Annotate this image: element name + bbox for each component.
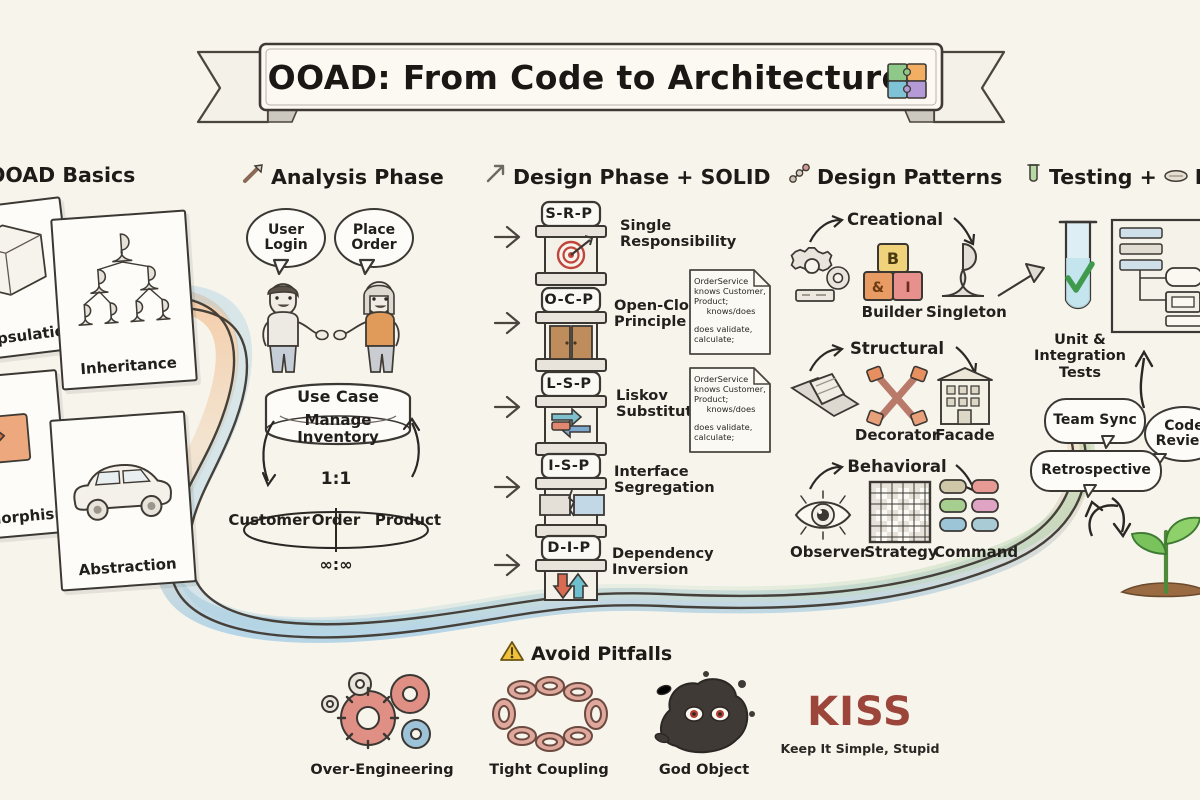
column-header-design: Design Phase + SOLID — [484, 163, 770, 190]
pitfalls-title-label: Avoid Pitfalls — [531, 643, 672, 665]
column-header-analysis: Analysis Phase — [242, 163, 444, 190]
column-label-testing: Testing + — [1049, 165, 1157, 189]
crc-note-head: OrderService knows Customer, Product; — [694, 276, 768, 306]
red-gears-icon — [316, 672, 446, 758]
use-case-title: Use Case — [278, 388, 398, 406]
pitfall-label-god-object: God Object — [640, 762, 768, 778]
pitfalls-title: Avoid Pitfalls — [500, 640, 672, 667]
crc-note-tail: does validate, calculate; — [694, 324, 768, 344]
solid-name-isp: Interface Segregation — [614, 464, 740, 496]
solid-abbr-dip: D-I-P — [540, 540, 598, 556]
blob-monster-icon — [648, 668, 758, 760]
column-label-analysis: Analysis Phase — [271, 165, 444, 189]
solid-name-srp: Single Responsibility — [620, 218, 740, 250]
whiteboard-canvas: OOAD: From Code to Architecture OOAD Bas… — [0, 0, 1200, 800]
bubble-team-sync[interactable]: Team Sync — [1044, 398, 1146, 444]
basics-card-label: Abstraction — [61, 553, 194, 580]
column-label-design: Design Phase + SOLID — [513, 165, 770, 189]
crossed-brushes-icon — [866, 366, 928, 428]
pattern-label-observer: Observer — [790, 543, 864, 561]
bubble-tail-icon — [272, 258, 294, 280]
puzzle-piece-icon — [886, 62, 930, 106]
single-person-icon — [932, 240, 994, 304]
pen-arrow-icon — [242, 163, 264, 190]
chain-icon — [486, 676, 616, 754]
pattern-label-facade: Facade — [934, 426, 996, 444]
column-header-patterns: Design Patterns — [788, 163, 1002, 190]
crc-note-head: OrderService knows Customer, Product; — [694, 374, 768, 404]
bubble-text: Retrospective — [1041, 463, 1151, 478]
test-tube-check-icon — [1052, 212, 1106, 328]
pattern-label-singleton: Singleton — [926, 303, 1002, 321]
person-male-icon — [246, 280, 336, 375]
cardinality-top: 1:1 — [296, 470, 376, 489]
dna-link-icon — [788, 163, 810, 190]
pattern-label-strategy: Strategy — [864, 543, 938, 561]
documentation-diagram-icon[interactable] — [1110, 218, 1200, 336]
svg-text:I: I — [905, 280, 910, 296]
testing-label: Unit & Integration Tests — [1030, 332, 1130, 381]
crc-note-mid: knows/does — [694, 404, 768, 414]
solid-abbr-isp: I-S-P — [540, 458, 598, 474]
test-tube-icon — [1022, 163, 1042, 190]
page-title: OOAD: From Code to Architecture — [266, 52, 906, 102]
solid-abbr-lsp: L-S-P — [540, 376, 598, 392]
bubble-text: Team Sync — [1053, 413, 1137, 428]
person-female-icon — [330, 280, 422, 375]
up-arrow-icon — [484, 163, 506, 190]
bubble-text: Place Order — [351, 223, 396, 254]
svg-text:&: & — [872, 280, 884, 296]
column-label-docs: Docs — [1195, 165, 1200, 189]
scroll-icon — [1164, 165, 1188, 189]
kiss-expansion: Keep It Simple, Stupid — [770, 741, 950, 756]
crc-note-tail: does validate, calculate; — [694, 422, 768, 442]
basics-card-label: Inheritance — [62, 352, 195, 379]
testing-inbound-arrow — [996, 262, 1048, 306]
kiss-principle: KISS Keep It Simple, Stupid — [770, 692, 950, 756]
solid-name-dip: Dependency Inversion — [612, 546, 742, 578]
entity-product: Product — [366, 512, 450, 529]
blocks-icon: B & I — [862, 242, 924, 304]
solid-abbr-ocp: O-C-P — [540, 292, 598, 308]
eye-icon — [790, 488, 862, 542]
pitfall-label-over-engineering: Over-Engineering — [300, 762, 464, 778]
pitfall-label-tight-coupling: Tight Coupling — [474, 762, 624, 778]
title-banner: OOAD: From Code to Architecture — [196, 22, 1006, 132]
pipe-adapter-icon — [788, 372, 864, 428]
bubble-tail-icon — [358, 258, 380, 280]
grid-board-icon — [868, 480, 932, 544]
bubble-text: User Login — [264, 223, 307, 254]
solid-abbr-srp: S-R-P — [540, 206, 598, 222]
column-header-testing: Testing + Docs — [1022, 163, 1200, 190]
solid-inbound-arrows — [455, 215, 535, 575]
column-label-basics: OOAD Basics — [0, 163, 135, 187]
column-label-patterns: Design Patterns — [817, 165, 1002, 189]
basics-card-inheritance[interactable]: Inheritance — [50, 209, 198, 390]
cardinality-bottom: ∞:∞ — [296, 556, 376, 574]
warning-triangle-icon — [500, 640, 524, 667]
basics-card-abstraction[interactable]: Abstraction — [49, 410, 197, 591]
pattern-label-command: Command — [934, 543, 1012, 561]
crc-note-mid: knows/does — [694, 306, 768, 316]
kiss-acronym: KISS — [770, 692, 950, 732]
pattern-label-builder: Builder — [854, 303, 930, 321]
buttons-icon — [938, 478, 1002, 544]
entity-order: Order — [296, 512, 376, 529]
seedling-icon — [1116, 500, 1200, 604]
column-header-basics: OOAD Basics — [0, 163, 135, 187]
building-icon — [934, 364, 996, 428]
bubble-text: Code Review — [1156, 419, 1200, 450]
pattern-label-decorator: Decorator — [854, 426, 940, 444]
gears-factory-icon — [790, 244, 860, 304]
svg-text:B: B — [887, 249, 899, 268]
